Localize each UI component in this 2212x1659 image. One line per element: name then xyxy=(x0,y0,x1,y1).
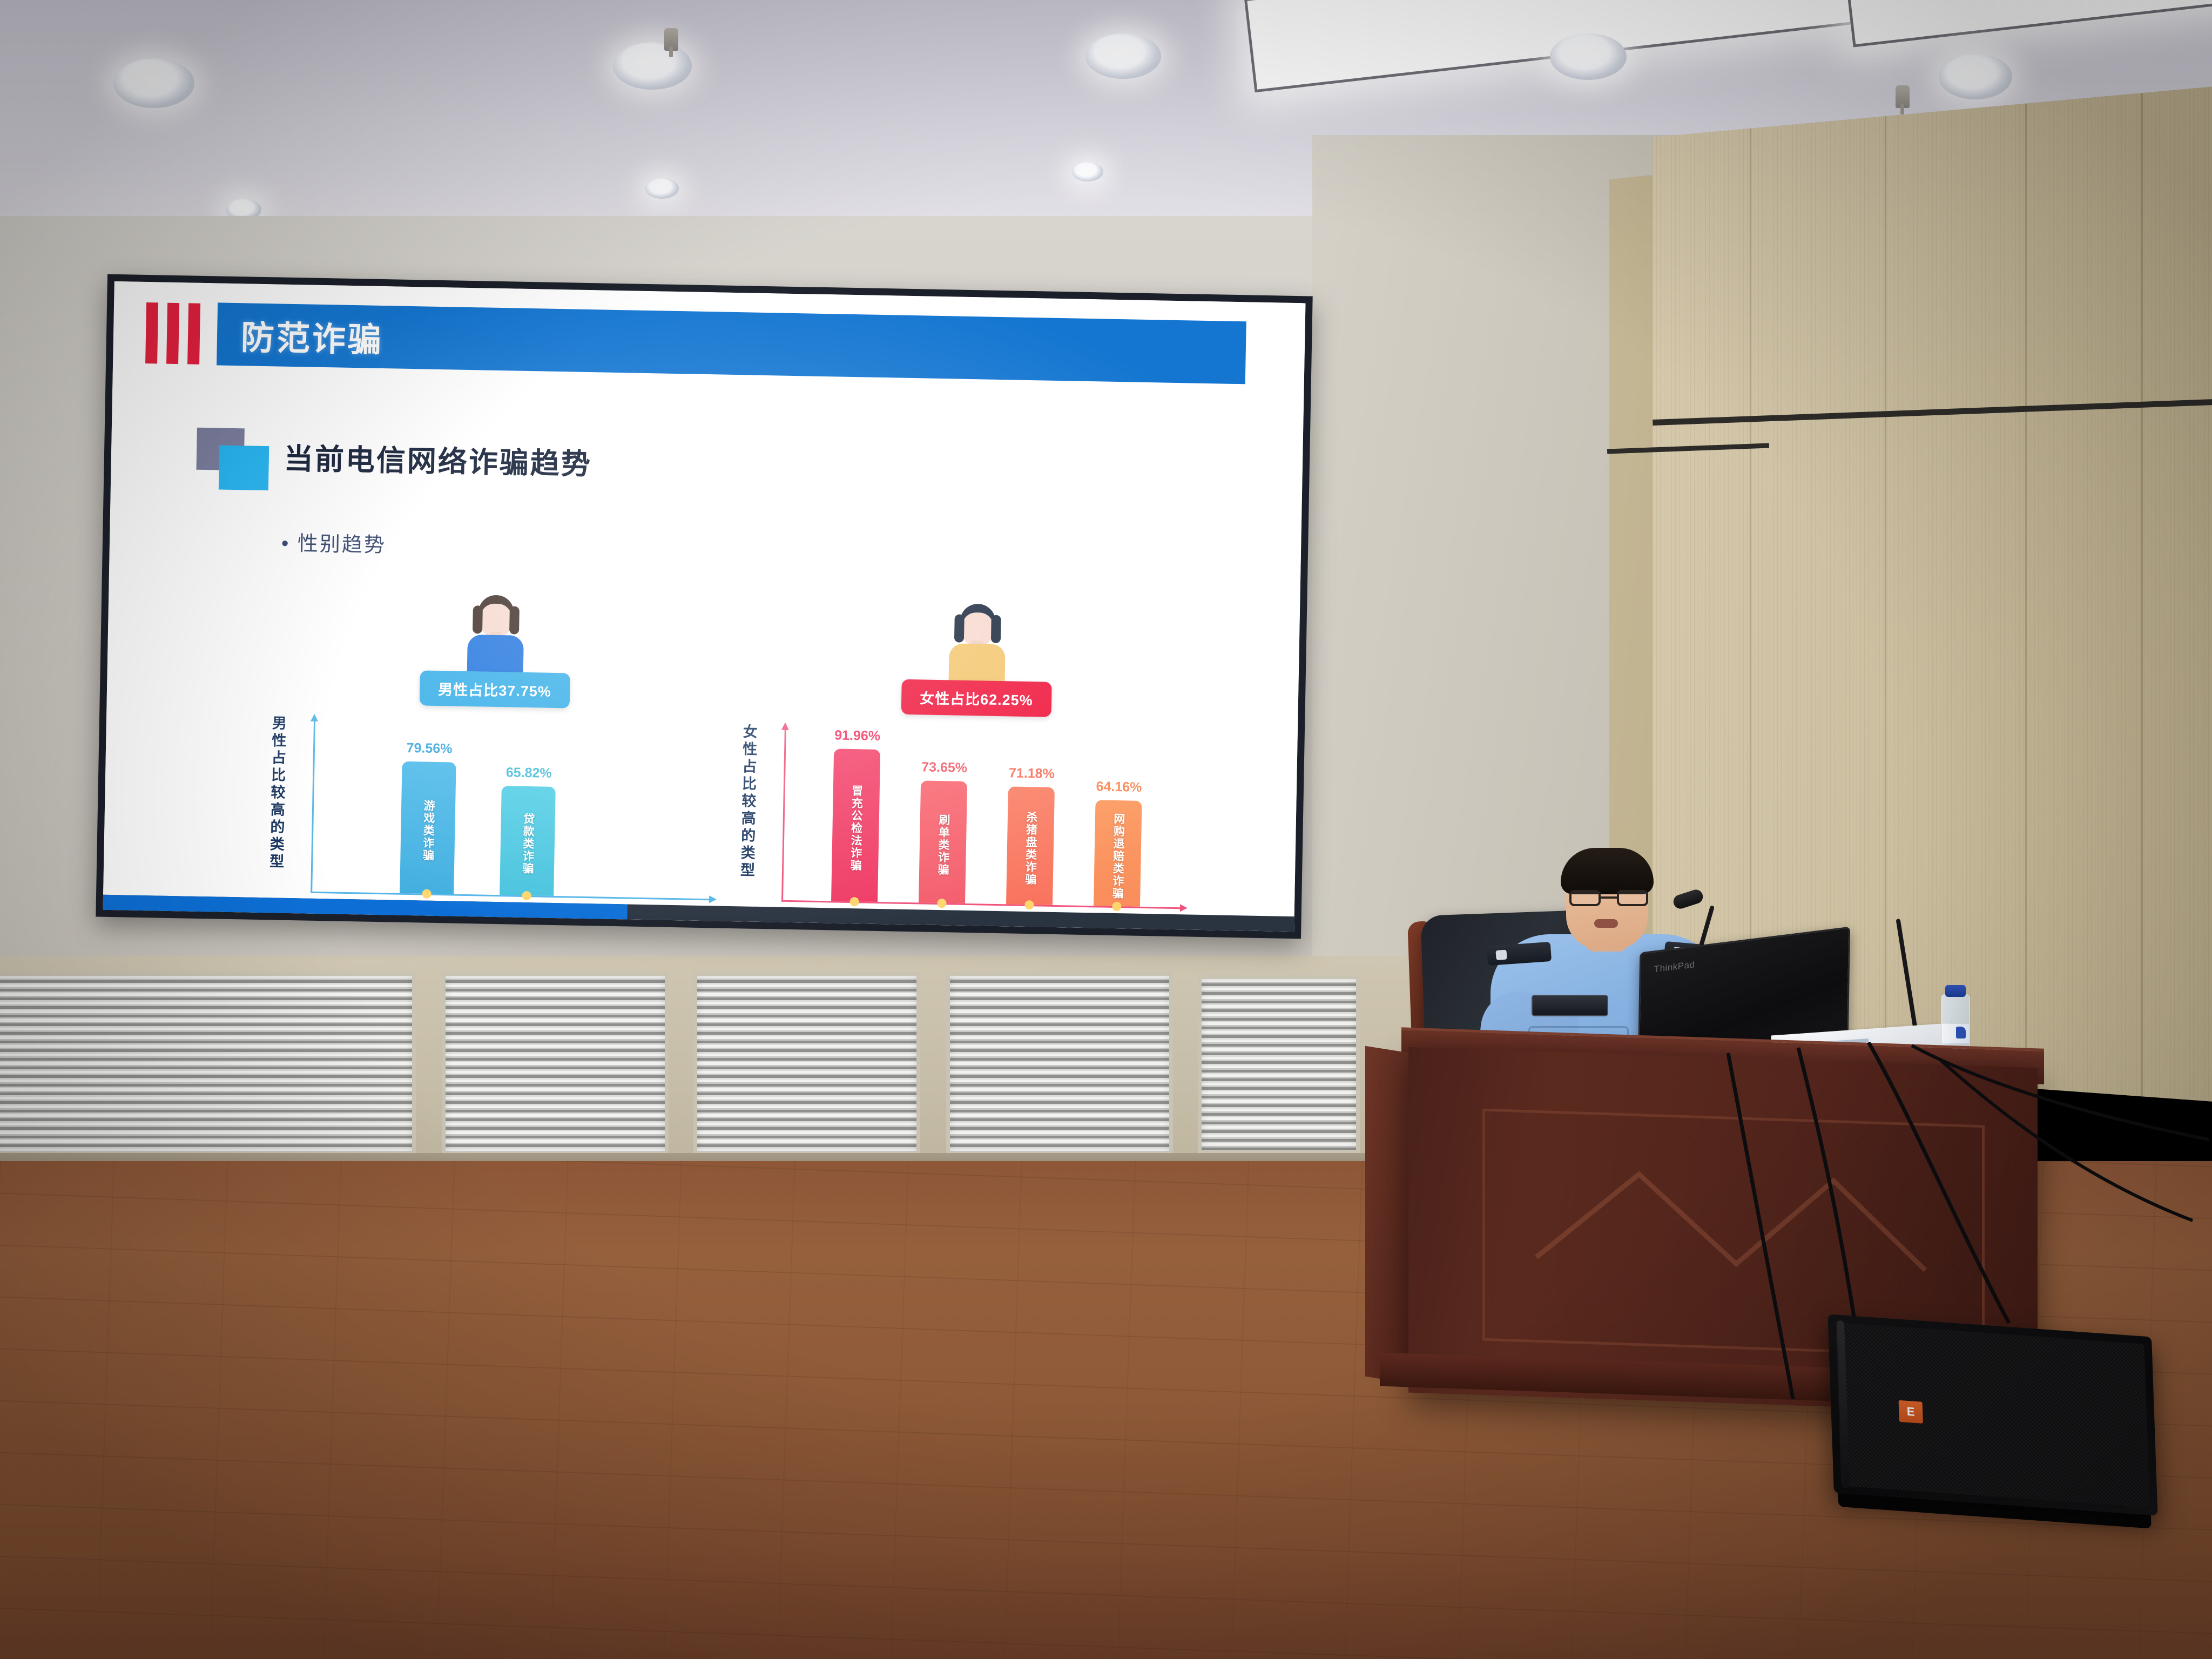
chart-group-male: 男性占比37.75% 男性占比较高的类型 79.56% 游戏类诈骗 xyxy=(259,586,729,908)
chart-group-female: 女性占比62.25% 女性占比较高的类型 91.96% 冒充公检法诈骗 xyxy=(730,595,1221,917)
male-share-badge: 男性占比37.75% xyxy=(420,670,570,708)
female-avatar-wrap: 女性占比62.25% xyxy=(733,595,1222,717)
air-vent-grille xyxy=(693,972,920,1156)
presenter-mouth xyxy=(1594,919,1618,928)
bar-dot-icon xyxy=(849,897,859,906)
air-vent-grille xyxy=(1198,975,1360,1154)
bar-dot-icon xyxy=(937,899,946,908)
subtitle-square-front-icon xyxy=(219,445,269,490)
bar-dot-icon xyxy=(522,891,531,900)
bottle-cap xyxy=(1945,985,1966,997)
air-vent-grille xyxy=(0,972,416,1156)
female-chart-axes: 91.96% 冒充公检法诈骗 73.65% 刷单类诈骗 71.18% xyxy=(781,729,1184,909)
slide-title: 防范诈骗 xyxy=(240,310,384,361)
bar-value: 71.18% xyxy=(1009,765,1055,782)
male-axis-label: 男性占比较高的类型 xyxy=(265,715,289,871)
bar-value: 91.96% xyxy=(834,727,880,744)
bar-value: 73.65% xyxy=(921,759,967,776)
conference-room-scene: 防范诈骗 当前电信网络诈骗趋势 性别趋势 xyxy=(0,0,2212,1659)
air-vent-grille xyxy=(946,972,1173,1156)
bar-value: 79.56% xyxy=(406,740,452,757)
bar-dot-icon xyxy=(422,889,431,899)
bar-category: 刷单类诈骗 xyxy=(934,813,952,876)
speaker-grille xyxy=(1836,1322,2150,1507)
bar: 79.56% 游戏类诈骗 xyxy=(400,761,456,894)
bar: 64.16% 网购退赔类诈骗 xyxy=(1094,800,1142,907)
slide-content: 防范诈骗 当前电信网络诈骗趋势 性别趋势 xyxy=(103,281,1306,932)
bar-category: 贷款类诈骗 xyxy=(519,812,536,875)
bar-category: 冒充公检法诈骗 xyxy=(847,784,865,872)
female-avatar-icon xyxy=(947,603,1008,685)
podium-diamond-ornament-icon xyxy=(1531,1144,1931,1319)
podium-side xyxy=(1365,1046,1415,1385)
bar: 71.18% 杀猪盘类诈骗 xyxy=(1006,786,1055,905)
slide-header-bar: 防范诈骗 xyxy=(217,302,1246,384)
male-chart-axes: 79.56% 游戏类诈骗 65.82% 贷款类诈骗 xyxy=(311,720,713,901)
screen-surface: 防范诈骗 当前电信网络诈骗趋势 性别趋势 xyxy=(103,281,1306,932)
bar: 73.65% 刷单类诈骗 xyxy=(919,780,967,903)
stage-monitor-speaker: E xyxy=(1827,1314,2157,1515)
male-avatar-wrap: 男性占比37.75% xyxy=(262,586,729,709)
glasses-icon xyxy=(1569,890,1648,906)
laptop-brand-label: ThinkPad xyxy=(1654,959,1695,975)
female-share-badge: 女性占比62.25% xyxy=(901,679,1052,717)
presentation-screen[interactable]: 防范诈骗 当前电信网络诈骗趋势 性别趋势 xyxy=(96,274,1312,939)
bar-value: 65.82% xyxy=(506,765,552,781)
bar-value: 64.16% xyxy=(1096,779,1142,795)
male-avatar-icon xyxy=(466,595,527,677)
bar-category: 杀猪盘类诈骗 xyxy=(1022,811,1040,886)
male-bars: 79.56% 游戏类诈骗 65.82% 贷款类诈骗 xyxy=(311,719,713,899)
bottle-label xyxy=(1942,1024,1969,1043)
slide-bullet-item: 性别趋势 xyxy=(281,527,387,558)
female-bars: 91.96% 冒充公检法诈骗 73.65% 刷单类诈骗 71.18% xyxy=(781,727,1184,908)
bar-category: 游戏类诈骗 xyxy=(419,799,436,862)
bar: 65.82% 贷款类诈骗 xyxy=(500,786,556,896)
uniform-chest-badge xyxy=(1532,995,1608,1016)
presenter-hair xyxy=(1561,848,1654,894)
bar-dot-icon xyxy=(1024,900,1034,909)
bar-dot-icon xyxy=(1112,902,1121,911)
air-vent-grille xyxy=(442,972,669,1156)
speaker-brand-logo-icon: E xyxy=(1899,1400,1923,1424)
bar-category: 网购退赔类诈骗 xyxy=(1109,812,1127,900)
slide-subtitle: 当前电信网络诈骗趋势 xyxy=(284,435,592,483)
female-axis-label: 女性占比较高的类型 xyxy=(736,724,760,880)
slide-accent-bars-icon xyxy=(145,302,200,365)
bar: 91.96% 冒充公检法诈骗 xyxy=(831,748,880,902)
